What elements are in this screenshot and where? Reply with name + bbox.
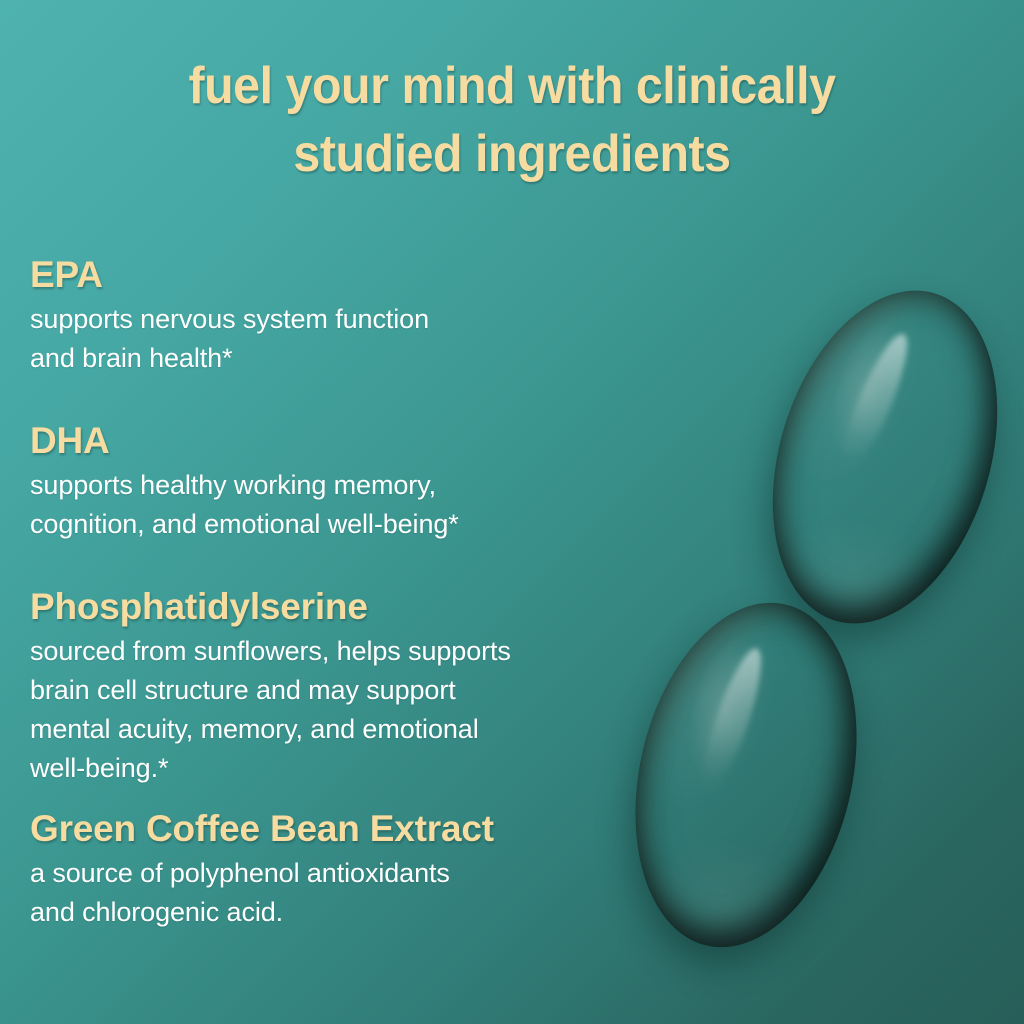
product-ingredient-infographic: fuel your mind with clinically studied i…	[0, 0, 1024, 1024]
ingredient-item-green-coffee-bean-extract: Green Coffee Bean Extract a source of po…	[30, 806, 670, 932]
ingredient-item-dha: DHA supports healthy working memory, cog…	[30, 418, 670, 544]
ingredient-description: supports healthy working memory, cogniti…	[30, 466, 670, 544]
ingredient-name: EPA	[30, 252, 670, 298]
ingredient-description: supports nervous system function and bra…	[30, 300, 670, 378]
ingredient-name: Green Coffee Bean Extract	[30, 806, 670, 852]
ingredient-name: Phosphatidylserine	[30, 584, 670, 630]
softgel-capsule-top	[735, 263, 1024, 651]
ingredient-name: DHA	[30, 418, 670, 464]
ingredient-item-phosphatidylserine: Phosphatidylserine sourced from sunflowe…	[30, 584, 670, 788]
ingredient-description: a source of polyphenol antioxidants and …	[30, 854, 670, 932]
ingredient-item-epa: EPA supports nervous system function and…	[30, 252, 670, 378]
ingredient-list: EPA supports nervous system function and…	[30, 252, 670, 932]
ingredient-description: sourced from sunflowers, helps supports …	[30, 632, 670, 788]
page-title: fuel your mind with clinically studied i…	[36, 52, 988, 188]
